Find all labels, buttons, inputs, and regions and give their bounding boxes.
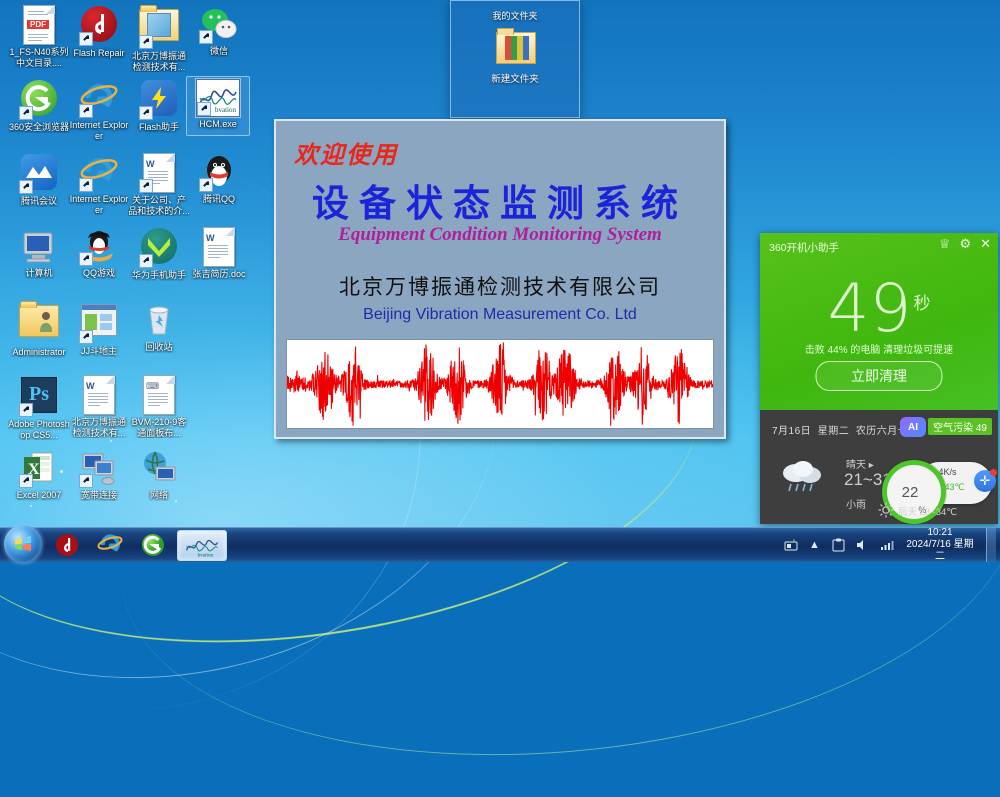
meeting-app-icon xyxy=(19,154,59,194)
desktop-icon-label: 微信 xyxy=(188,46,250,57)
qq-games-icon xyxy=(79,226,119,266)
word-doc-icon: W xyxy=(199,227,239,267)
desktop-icon-company-folder[interactable]: 北京万博振通检测技术有... xyxy=(128,4,190,72)
hcm-app-icon: bvation xyxy=(196,79,240,117)
shortcut-overlay-icon xyxy=(139,35,153,49)
user-folder-icon xyxy=(19,305,59,345)
shortcut-overlay-icon xyxy=(19,403,33,417)
show-hidden-icons-arrow[interactable]: ▲ xyxy=(807,538,822,553)
network-signal-icon[interactable] xyxy=(879,538,894,553)
shortcut-overlay-icon xyxy=(19,474,33,488)
desktop-icon-label: 宽带连接 xyxy=(68,490,130,501)
photoshop-icon: Ps xyxy=(19,377,59,417)
desktop-icon-360-browser[interactable]: 360安全浏览器 xyxy=(8,78,70,133)
desktop-icon-internet-explorer-2[interactable]: Internet Explorer xyxy=(68,152,130,215)
desktop-icon-tencent-qq[interactable]: 腾讯QQ xyxy=(188,152,250,205)
boot-time-value: 49秒 xyxy=(760,271,998,342)
sun-icon xyxy=(878,502,894,518)
desktop-icon-label: 腾讯QQ xyxy=(188,194,250,205)
360-widget-title: 360开机小助手 xyxy=(769,240,839,255)
desktop-icon-internet-explorer[interactable]: Internet Explorer xyxy=(68,78,130,141)
clock-date: 2024/7/16 星期二 xyxy=(903,539,977,563)
desktop-icon-administrator[interactable]: Administrator xyxy=(8,300,70,358)
desktop-icon-label: Adobe Photoshop CS5... xyxy=(8,419,70,440)
360-widget-green-panel: 360开机小助手 ♕ ⚙ ✕ 49秒 击败 44% 的电脑 清理垃圾可提速 立即… xyxy=(760,233,998,410)
qq-app-icon xyxy=(199,152,239,192)
folder-icon xyxy=(139,9,179,49)
desktop-icon-qq-games[interactable]: QQ游戏 xyxy=(68,226,130,279)
desktop-icon-huawei-assistant[interactable]: 华为手机助手 xyxy=(128,226,190,281)
desktop-icon-label: BVM-210-9客通面板布... xyxy=(128,417,190,438)
weather-panel: 7月16日 星期二 农历六月十一 AI 空气污染 49 晴天 ▸ 21~31 小… xyxy=(760,410,998,524)
quicklaunch-360-browser[interactable] xyxy=(139,532,167,558)
browser-360-icon xyxy=(19,80,59,120)
desktop-icon-about-company-doc[interactable]: W 关于公司、产品和技术的介... xyxy=(128,152,190,216)
desktop-icon-flash-repair[interactable]: Flash Repair xyxy=(68,4,130,59)
desktop-icon-company-doc[interactable]: W 北京万博振通检测技术有... xyxy=(68,374,130,438)
word-doc-icon: W xyxy=(139,153,179,193)
desktop-icon-label: Excel 2007 xyxy=(8,490,70,501)
360-widget-toolbar: ♕ ⚙ ✕ xyxy=(939,237,991,250)
company-name-chinese: 北京万博振通检测技术有限公司 xyxy=(276,271,724,301)
folder-preview-name: 新建文件夹 xyxy=(451,71,579,85)
desktop-icon-hcm-exe[interactable]: bvation HCM.exe xyxy=(186,76,250,136)
desktop-icon-excel-2007[interactable]: X Excel 2007 xyxy=(8,448,70,501)
taskbar-clock[interactable]: 10:21 2024/7/16 星期二 xyxy=(903,527,977,563)
desktop-icon-label: 1_FS-N40系列中文目录.... xyxy=(8,47,70,68)
skin-icon[interactable]: ♕ xyxy=(939,237,951,250)
folder-preview-caption: 我的文件夹 xyxy=(451,9,579,22)
doc-file-icon: ⌨ xyxy=(139,375,179,415)
desktop-icon-jj-game[interactable]: JJ斗地主 xyxy=(68,300,130,357)
taskbar-window-hcm[interactable]: bvation xyxy=(177,530,227,561)
cpu-usage-value: 22 xyxy=(902,484,919,501)
shortcut-overlay-icon xyxy=(19,106,33,120)
desktop-icon-label: 回收站 xyxy=(128,342,190,353)
jj-game-icon xyxy=(79,304,119,344)
word-doc-icon: W xyxy=(79,375,119,415)
shortcut-overlay-icon xyxy=(79,178,93,192)
company-name-english: Beijing Vibration Measurement Co. Ltd xyxy=(276,306,724,324)
desktop-icon-label: Flash Repair xyxy=(68,48,130,59)
shortcut-overlay-icon xyxy=(139,106,153,120)
pdf-file-icon: PDF xyxy=(19,5,59,45)
welcome-text: 欢迎使用 xyxy=(294,135,398,170)
desktop-icon-label: 腾讯会议 xyxy=(8,196,70,207)
desktop-icon-label: QQ游戏 xyxy=(68,268,130,279)
boot-comparison-text: 击败 44% 的电脑 清理垃圾可提速 xyxy=(760,341,998,356)
ie-browser-icon xyxy=(79,78,119,118)
shortcut-overlay-icon xyxy=(79,474,93,488)
recycle-bin-icon xyxy=(139,300,179,340)
desktop-icon-recycle-bin[interactable]: 回收站 xyxy=(128,300,190,353)
desktop-icon-label: 网络 xyxy=(128,490,190,501)
weather-wind-label: 晴天 ▸ xyxy=(846,456,874,471)
quicklaunch-flash[interactable] xyxy=(53,532,81,558)
desktop-icon-tencent-meeting[interactable]: 腾讯会议 xyxy=(8,152,70,207)
shortcut-overlay-icon xyxy=(199,30,213,44)
shortcut-overlay-icon xyxy=(139,179,153,193)
broadband-icon xyxy=(79,448,119,488)
desktop-icon-bvm-doc[interactable]: ⌨ BVM-210-9客通面板布... xyxy=(128,374,190,438)
hardware-removal-icon[interactable] xyxy=(783,538,798,553)
desktop-icon-photoshop[interactable]: Ps Adobe Photoshop CS5... xyxy=(8,374,70,440)
desktop-icon-label: 张吉简历.doc xyxy=(188,269,250,280)
desktop-icon-pdf-catalog[interactable]: PDF 1_FS-N40系列中文目录.... xyxy=(8,4,70,68)
desktop-icon-label: 计算机 xyxy=(8,268,70,279)
app-title-chinese: 设备状态监测系统 xyxy=(276,173,724,227)
svg-text:bvation: bvation xyxy=(198,552,214,558)
boot-time-unit: 秒 xyxy=(913,294,930,314)
waveform-svg xyxy=(287,340,713,428)
desktop-icon-wechat[interactable]: 微信 xyxy=(188,4,250,57)
desktop-icon-label: Internet Explorer xyxy=(68,120,130,141)
desktop-icon-label: JJ斗地主 xyxy=(68,346,130,357)
desktop-icon-label: 360安全浏览器 xyxy=(8,122,70,133)
desktop-icon-label: 北京万博振通检测技术有... xyxy=(68,417,130,438)
svg-text:bvation: bvation xyxy=(215,106,236,114)
splash-window[interactable]: 欢迎使用 设备状态监测系统 Equipment Condition Monito… xyxy=(274,119,726,439)
clipboard-icon[interactable] xyxy=(831,538,846,553)
app-title-english: Equipment Condition Monitoring System xyxy=(276,224,724,246)
clean-now-button[interactable]: 立即清理 xyxy=(816,361,943,391)
desktop-icon-resume-doc[interactable]: W 张吉简历.doc xyxy=(188,226,250,280)
rain-cloud-icon xyxy=(776,456,832,496)
windows-logo-icon xyxy=(13,534,33,554)
weather-description: 小雨 xyxy=(846,496,866,511)
360-boot-assistant-widget[interactable]: 360开机小助手 ♕ ⚙ ✕ 49秒 击败 44% 的电脑 清理垃圾可提速 立即… xyxy=(760,233,998,524)
flash-app-icon xyxy=(79,6,119,46)
shortcut-overlay-icon xyxy=(19,180,33,194)
wechat-app-icon xyxy=(199,4,239,44)
desktop-icon-label: 华为手机助手 xyxy=(128,270,190,281)
desktop-icon-label: HCM.exe xyxy=(187,119,249,130)
shortcut-overlay-icon xyxy=(197,102,211,116)
vibration-waveform-panel xyxy=(286,339,714,429)
desktop-icon-broadband[interactable]: 宽带连接 xyxy=(68,448,130,501)
desktop-icon-grid: PDF 1_FS-N40系列中文目录.... Flash Repair 北京万博… xyxy=(0,0,248,520)
desktop-icon-label: Administrator xyxy=(8,347,70,358)
gear-icon[interactable]: ⚙ xyxy=(959,237,971,250)
flash-helper-icon xyxy=(139,80,179,120)
ai-badge[interactable]: AI xyxy=(900,417,926,437)
computer-icon xyxy=(19,226,59,266)
shortcut-overlay-icon xyxy=(79,330,93,344)
start-button[interactable] xyxy=(4,525,42,563)
shortcut-overlay-icon xyxy=(79,104,93,118)
network-icon xyxy=(139,448,179,488)
quicklaunch-internet-explorer[interactable] xyxy=(96,532,124,558)
folder-preview-popup[interactable]: 我的文件夹 新建文件夹 xyxy=(450,0,580,118)
desktop-icon-network[interactable]: 网络 xyxy=(128,448,190,501)
air-quality-badge[interactable]: 空气污染 49 xyxy=(928,418,992,435)
clock-time: 10:21 xyxy=(903,527,977,539)
taskbar[interactable]: bvation ▲ 10:21 2024/7/16 星期二 xyxy=(0,527,1000,562)
system-tray[interactable]: ▲ 10:21 2024/7/16 星期二 xyxy=(783,528,1000,562)
desktop-icon-label: Flash助手 xyxy=(128,122,190,133)
desktop-icon-label: Internet Explorer xyxy=(68,194,130,215)
show-desktop-button[interactable] xyxy=(986,528,996,562)
desktop-icon-label: 北京万博振通检测技术有... xyxy=(128,51,190,72)
shortcut-overlay-icon xyxy=(199,178,213,192)
huawei-assistant-icon xyxy=(139,228,179,268)
desktop-icon-label: 关于公司、产品和技术的介... xyxy=(128,195,190,216)
add-button[interactable]: ✛ xyxy=(974,470,996,492)
desktop-icon-flash-helper[interactable]: Flash助手 xyxy=(128,78,190,133)
ie-browser-icon xyxy=(79,152,119,192)
weather-date: 7月16日 星期二 农历六月十一 xyxy=(772,422,919,437)
folder-icon xyxy=(496,32,534,66)
notification-dot xyxy=(990,469,997,476)
shortcut-overlay-icon xyxy=(79,32,93,46)
close-icon[interactable]: ✕ xyxy=(980,237,991,250)
shortcut-overlay-icon xyxy=(79,252,93,266)
desktop-icon-computer[interactable]: 计算机 xyxy=(8,226,70,279)
shortcut-overlay-icon xyxy=(139,254,153,268)
tomorrow-forecast: 后天 23~34℃ xyxy=(898,504,957,518)
excel-icon: X xyxy=(19,448,59,488)
volume-icon[interactable] xyxy=(855,538,870,553)
